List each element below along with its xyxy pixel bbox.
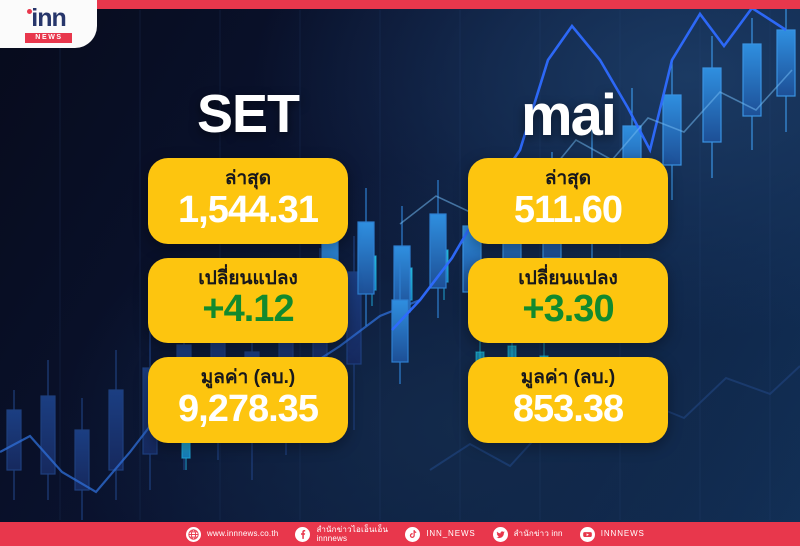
card-mai-latest: ล่าสุด 511.60 — [468, 158, 668, 244]
youtube-icon — [580, 527, 595, 542]
card-mai-change: เปลี่ยนแปลง +3.30 — [468, 258, 668, 344]
footer-label: INN_NEWS — [426, 529, 475, 538]
card-label: ล่าสุด — [474, 167, 662, 191]
background-chart-art — [0, 0, 800, 546]
logo-news-badge: NEWS — [25, 33, 71, 43]
card-set-change: เปลี่ยนแปลง +4.12 — [148, 258, 348, 344]
card-value: 9,278.35 — [154, 389, 342, 431]
card-label: เปลี่ยนแปลง — [154, 267, 342, 291]
index-column-set: SET ล่าสุด 1,544.31 เปลี่ยนแปลง +4.12 มู… — [148, 86, 348, 457]
footer-label: www.innnews.co.th — [207, 529, 278, 538]
card-value: 511.60 — [474, 190, 662, 232]
footer-label: INNNEWS — [601, 529, 645, 538]
index-name-set: SET — [148, 86, 348, 158]
card-value: 853.38 — [474, 389, 662, 431]
top-accent-bar — [0, 0, 800, 9]
card-value: +3.30 — [474, 289, 662, 331]
card-label: เปลี่ยนแปลง — [474, 267, 662, 291]
card-set-latest: ล่าสุด 1,544.31 — [148, 158, 348, 244]
footer-label: สำนักข่าวไอเอ็นเอ็น — [316, 525, 388, 534]
index-name-mai: mai — [468, 86, 668, 158]
tiktok-icon — [405, 527, 420, 542]
card-mai-value: มูลค่า (ลบ.) 853.38 — [468, 357, 668, 443]
social-footer-bar: www.innnews.co.th สำนักข่าวไอเอ็นเอ็น in… — [0, 522, 800, 546]
logo-wordmark: inn — [31, 6, 66, 31]
index-column-mai: mai ล่าสุด 511.60 เปลี่ยนแปลง +3.30 มูลค… — [468, 86, 668, 457]
card-label: มูลค่า (ลบ.) — [154, 366, 342, 390]
footer-item-twitter[interactable]: สำนักข่าว inn — [493, 527, 563, 542]
footer-item-website[interactable]: www.innnews.co.th — [186, 527, 278, 542]
card-set-value: มูลค่า (ลบ.) 9,278.35 — [148, 357, 348, 443]
card-value: +4.12 — [154, 289, 342, 331]
facebook-icon — [295, 527, 310, 542]
inn-news-logo[interactable]: inn NEWS — [0, 0, 97, 48]
twitter-icon — [493, 527, 508, 542]
card-label: มูลค่า (ลบ.) — [474, 366, 662, 390]
footer-item-tiktok[interactable]: INN_NEWS — [405, 527, 475, 542]
globe-icon — [186, 527, 201, 542]
footer-item-facebook[interactable]: สำนักข่าวไอเอ็นเอ็น innnews — [295, 525, 388, 544]
footer-label-secondary: innnews — [316, 534, 388, 543]
footer-label: สำนักข่าว inn — [514, 529, 563, 538]
card-value: 1,544.31 — [154, 190, 342, 232]
card-label: ล่าสุด — [154, 167, 342, 191]
footer-item-youtube[interactable]: INNNEWS — [580, 527, 645, 542]
logo-dot-icon — [27, 9, 32, 14]
stock-index-graphic: inn NEWS SET ล่าสุด 1,544.31 เปลี่ยนแปลง… — [0, 0, 800, 546]
